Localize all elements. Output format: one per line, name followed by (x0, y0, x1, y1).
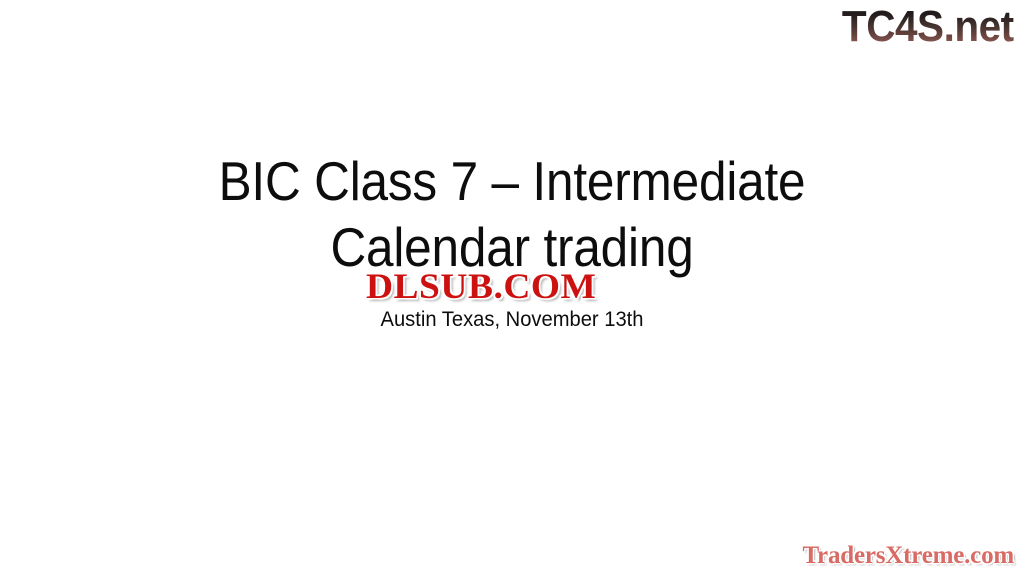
tradersxtreme-watermark-logo: TradersXtreme.com (802, 543, 1014, 568)
slide-title-line-1: BIC Class 7 – Intermediate (51, 148, 973, 214)
presentation-slide: TC4S.net BIC Class 7 – Intermediate Cale… (0, 0, 1024, 576)
slide-title: BIC Class 7 – Intermediate Calendar trad… (0, 148, 1024, 280)
slide-subtitle: Austin Texas, November 13th (20, 307, 1003, 333)
dlsub-watermark-logo: DLSUB.COM (366, 268, 596, 304)
tc4s-watermark-logo: TC4S.net (842, 5, 1014, 49)
